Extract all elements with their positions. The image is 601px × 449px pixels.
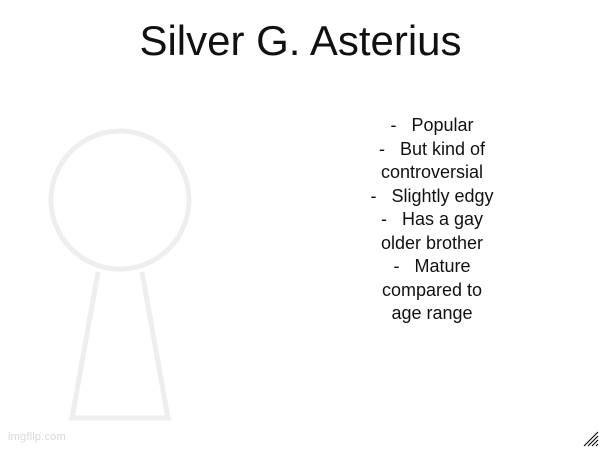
list-item: - But kind of: [316, 138, 548, 162]
list-item: - Popular: [316, 114, 548, 138]
resize-grip-icon[interactable]: [581, 429, 599, 447]
list-item: - Mature: [316, 255, 548, 279]
list-item: age range: [316, 302, 548, 326]
imgflip-watermark: imgflip.com: [8, 431, 66, 443]
list-item: older brother: [316, 232, 548, 256]
list-item: - Slightly edgy: [316, 185, 548, 209]
page-title: Silver G. Asterius: [0, 18, 601, 63]
trait-list: - Popular - But kind of controversial - …: [316, 114, 548, 326]
list-item: controversial: [316, 161, 548, 185]
list-item: - Has a gay: [316, 208, 548, 232]
meme-canvas: Silver G. Asterius - Popular - But kind …: [0, 0, 601, 449]
person-silhouette-outline-icon: [36, 118, 246, 430]
list-item: compared to: [316, 279, 548, 303]
